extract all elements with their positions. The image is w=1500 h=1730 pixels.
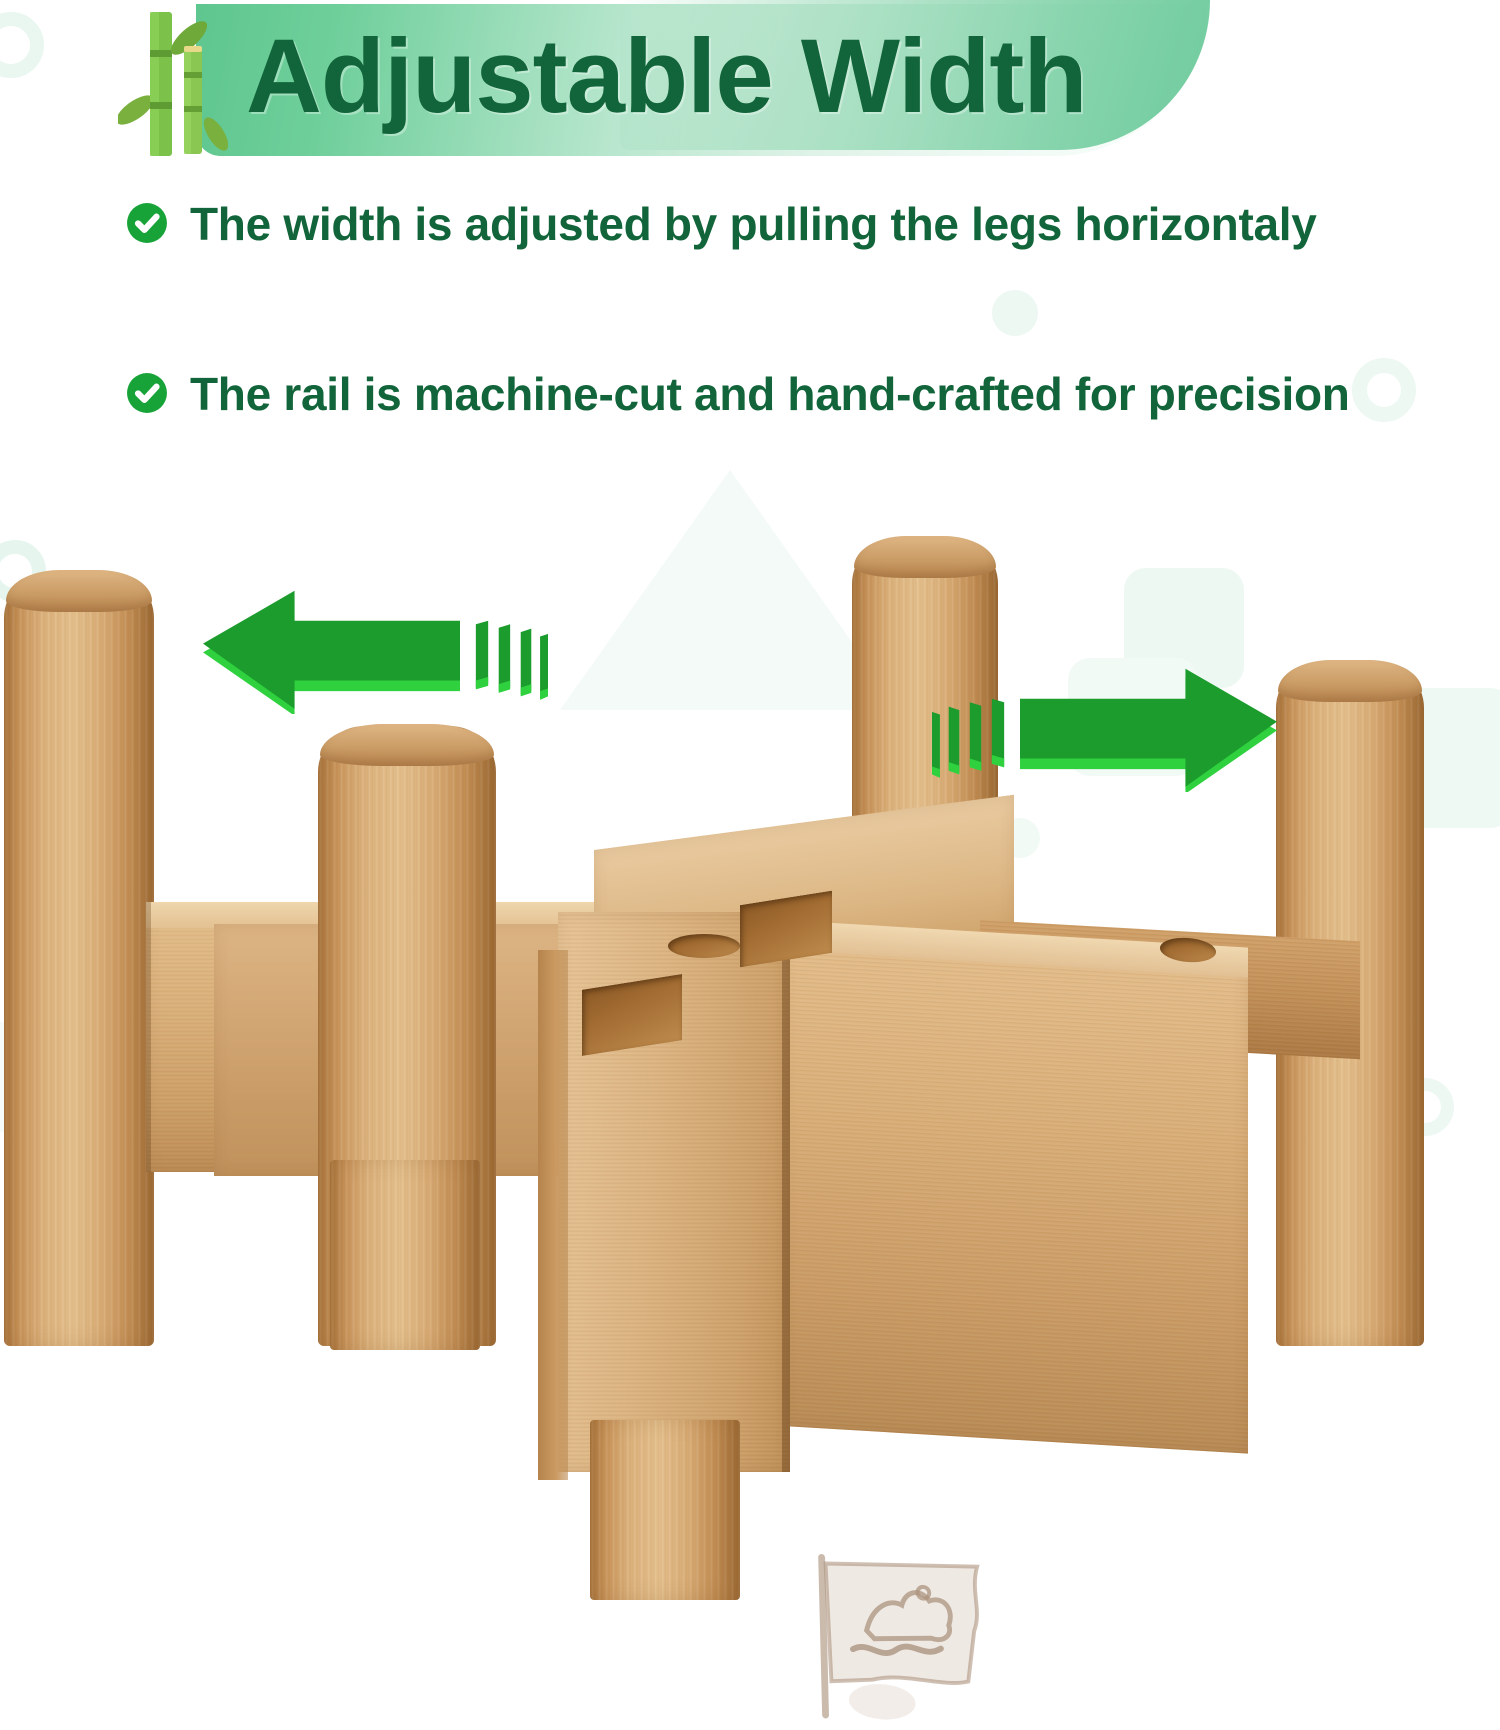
leg-far-left-body — [4, 572, 154, 1346]
watermark-circle-right-top — [992, 290, 1038, 336]
brand-flag-crown-logo — [796, 1542, 992, 1730]
leg-front-left-cap — [320, 724, 494, 766]
arrow-right — [932, 660, 1284, 792]
feature-bullet-1-text: The width is adjusted by pulling the leg… — [190, 195, 1317, 254]
leg-front-left-lower — [330, 1160, 480, 1350]
block-center-sliver-face — [538, 950, 568, 1480]
arrow-left-streaks — [476, 621, 548, 700]
feature-bullet-1: The width is adjusted by pulling the leg… — [126, 195, 1317, 254]
feature-bullet-2: The rail is machine-cut and hand-crafted… — [126, 365, 1350, 424]
arrow-right-streaks — [932, 699, 1004, 778]
leg-back-right-lower-body — [590, 1420, 740, 1600]
dowel-hole-center — [668, 934, 740, 958]
title-band: Adjustable Width — [0, 0, 1500, 175]
rail-front-right — [782, 920, 1248, 1454]
check-circle-icon — [126, 372, 168, 414]
leg-front-left-lower-body — [330, 1160, 480, 1350]
rail-front-right-face — [782, 920, 1248, 1454]
block-center-sliver — [538, 950, 568, 1480]
leg-far-right-cap — [1278, 660, 1422, 702]
page-title: Adjustable Width — [246, 7, 1346, 147]
product-photo-bamboo-plant-stand — [0, 520, 1500, 1346]
leg-far-left-cap — [6, 570, 152, 612]
arrow-left — [196, 582, 548, 714]
watermark-ring-right — [1352, 358, 1416, 422]
bamboo-stalks-icon — [118, 10, 228, 160]
feature-bullet-2-text: The rail is machine-cut and hand-crafted… — [190, 365, 1350, 424]
block-center-front-right-shadow — [782, 912, 790, 1472]
leg-back-right-cap — [854, 536, 996, 578]
rail-left-rear-left-shadow — [146, 902, 151, 1172]
leg-back-right-lower — [590, 1420, 740, 1600]
leg-far-left — [4, 572, 154, 1346]
check-circle-icon — [126, 202, 168, 244]
